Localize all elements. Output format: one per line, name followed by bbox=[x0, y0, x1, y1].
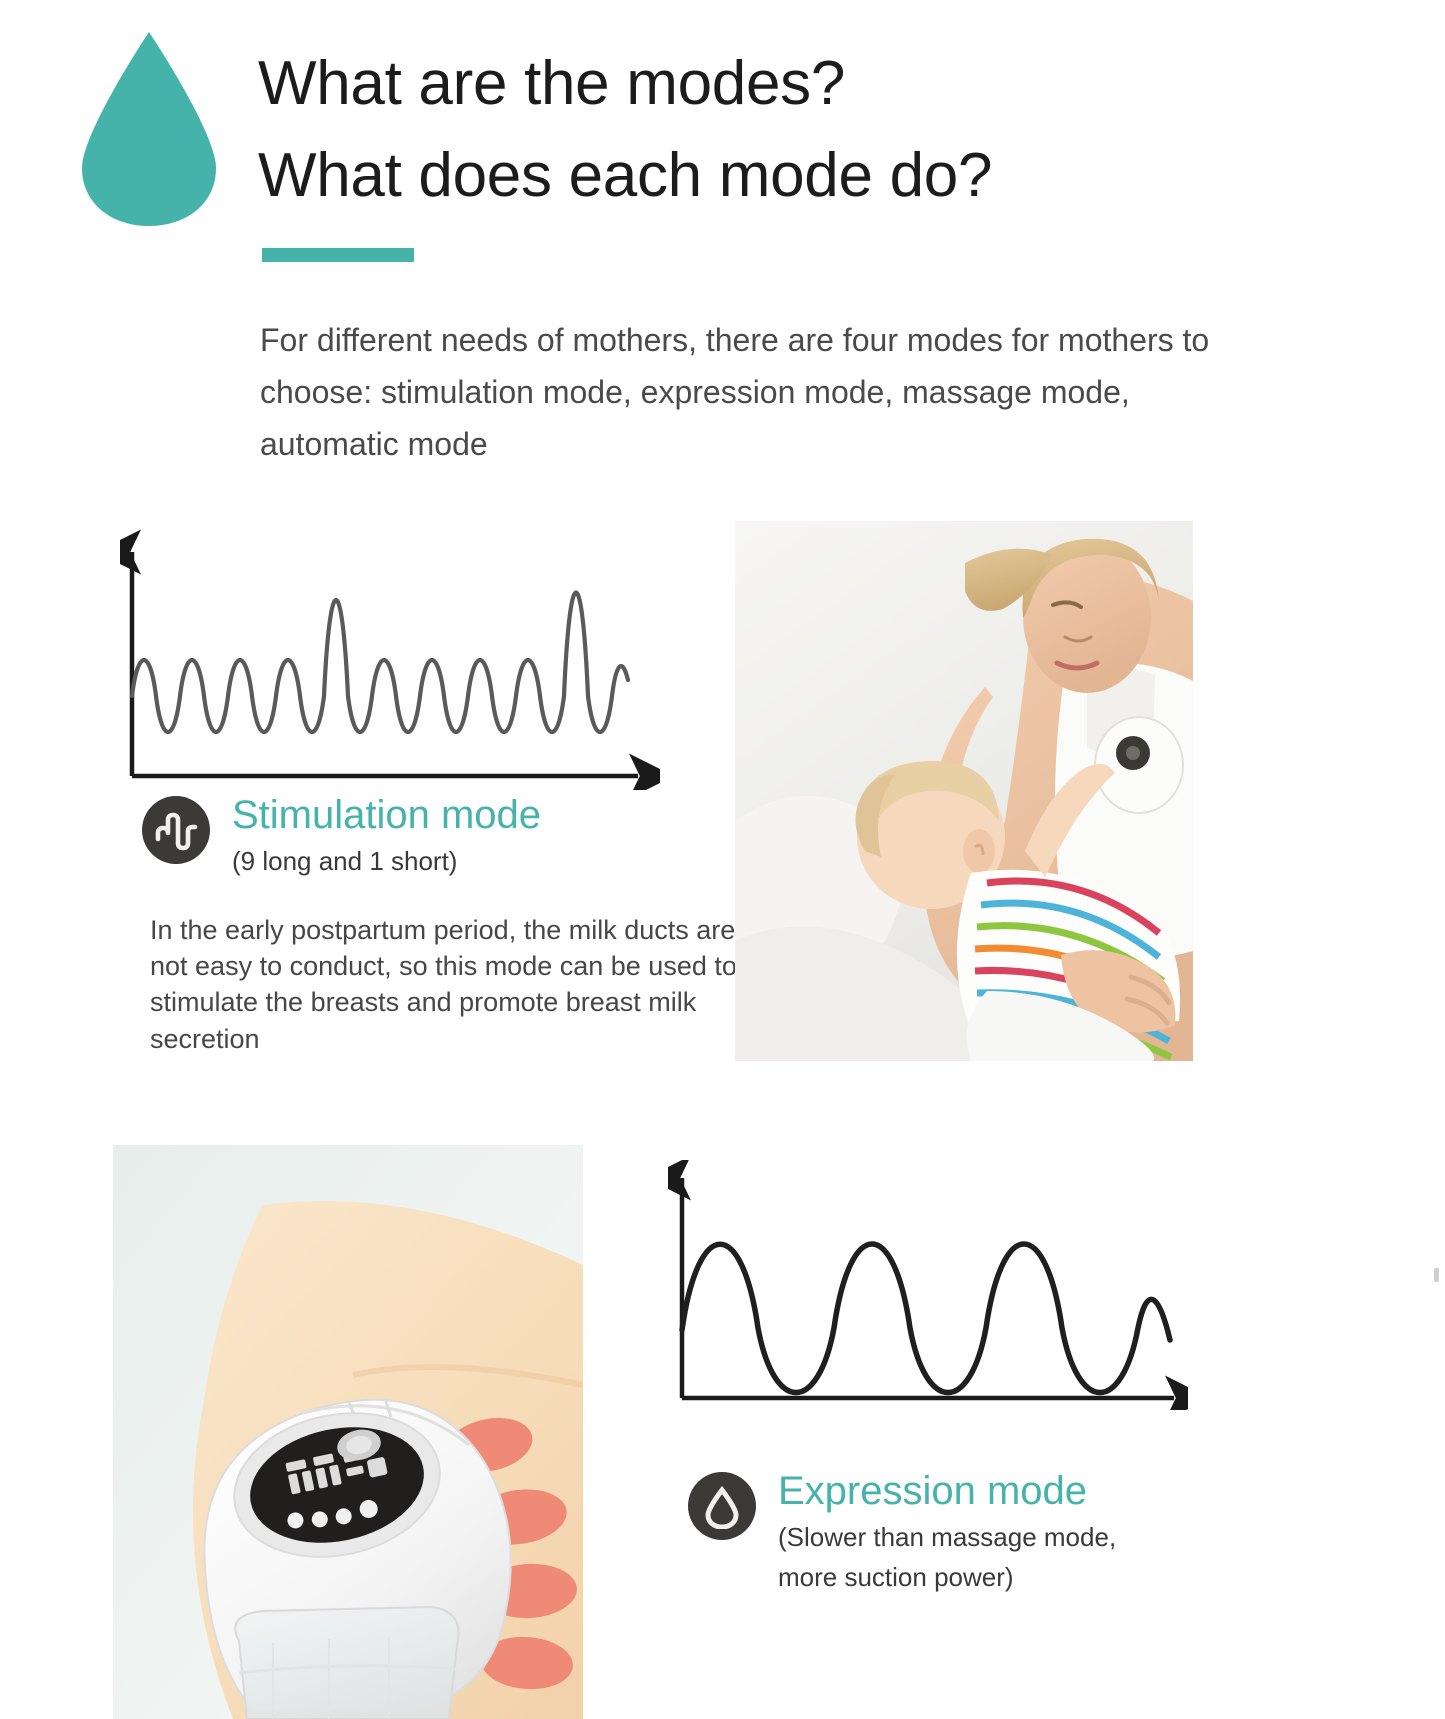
mode-subtitle-expression-line-2: more suction power) bbox=[778, 1561, 1116, 1595]
mode-label-stimulation: Stimulation mode (9 long and 1 short) bbox=[142, 792, 541, 879]
mode-subtitle-expression-line-1: (Slower than massage mode, bbox=[778, 1521, 1116, 1555]
mode-label-text-stimulation: Stimulation mode (9 long and 1 short) bbox=[232, 792, 541, 879]
page-title-line-1: What are the modes? bbox=[258, 38, 1258, 130]
page-title: What are the modes? What does each mode … bbox=[258, 38, 1258, 222]
mode-title-stimulation: Stimulation mode bbox=[232, 792, 541, 839]
water-drop-icon bbox=[78, 28, 220, 228]
photo-pump-on-skin bbox=[113, 1145, 583, 1719]
edge-artifact bbox=[1434, 1268, 1439, 1282]
photo-mother-baby bbox=[735, 521, 1193, 1061]
page-title-line-2: What does each mode do? bbox=[258, 130, 1258, 222]
mode-title-expression: Expression mode bbox=[778, 1468, 1116, 1515]
intro-paragraph: For different needs of mothers, there ar… bbox=[260, 315, 1220, 470]
mode-description-stimulation: In the early postpartum period, the milk… bbox=[150, 912, 750, 1057]
droplet-icon bbox=[688, 1472, 756, 1540]
mode-label-text-expression: Expression mode (Slower than massage mod… bbox=[778, 1468, 1116, 1595]
stimulation-waveform-chart bbox=[120, 528, 660, 790]
accent-underline bbox=[262, 248, 414, 262]
mode-label-expression: Expression mode (Slower than massage mod… bbox=[688, 1468, 1116, 1595]
mode-subtitle-stimulation: (9 long and 1 short) bbox=[232, 845, 541, 879]
expression-waveform-chart bbox=[668, 1160, 1188, 1410]
waveform-icon bbox=[142, 796, 210, 864]
